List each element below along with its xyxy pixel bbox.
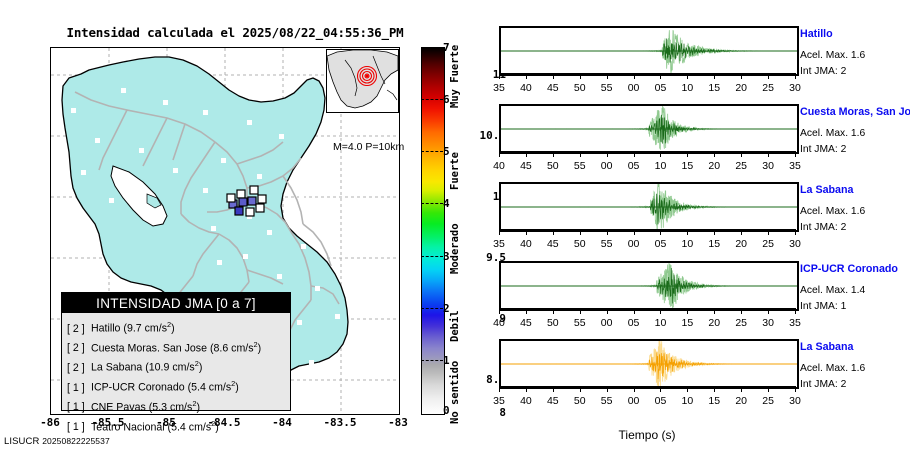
axis-tick-mark <box>580 308 581 314</box>
axis-tick-mark <box>634 308 635 314</box>
axis-tick-label: 20 <box>703 160 725 172</box>
colorbar-category-label: Moderado <box>449 223 461 274</box>
footer-credit: LISUCR 20250822225537 <box>4 436 110 447</box>
axis-tick-mark <box>687 308 688 314</box>
axis-tick-label: 45 <box>542 395 564 407</box>
unit-exponent: 2 <box>231 379 235 388</box>
legend-unit: cm/s <box>172 362 194 374</box>
axis-tick-mark <box>499 151 500 157</box>
legend-accel: 8.6 <box>213 342 228 354</box>
legend-station: Cuesta Moras. San Jose <box>91 342 207 354</box>
axis-tick-label: 35 <box>784 317 806 329</box>
axis-tick-mark <box>634 386 635 392</box>
jma-intensity-label: Int JMA: 2 <box>800 144 846 155</box>
axis-tick-mark <box>634 151 635 157</box>
axis-tick-label: 40 <box>515 82 537 94</box>
axis-tick-label: 00 <box>623 238 645 250</box>
axis-tick-label: 20 <box>703 317 725 329</box>
axis-tick-label: 20 <box>730 82 752 94</box>
colorbar-category-label: Muy Fuerte <box>449 45 461 108</box>
axis-tick-mark <box>795 151 796 157</box>
axis-tick-mark <box>607 308 608 314</box>
legend-level: [ 1 ] <box>67 420 91 435</box>
axis-tick-mark <box>660 151 661 157</box>
axis-tick-label: 40 <box>515 395 537 407</box>
legend-level: [ 2 ] <box>67 322 91 337</box>
axis-tick-label: 25 <box>730 317 752 329</box>
axis-tick-label: 05 <box>649 395 671 407</box>
axis-tick-label: 50 <box>569 395 591 407</box>
legend-list: [ 2 ]Hatillo (9.7 cm/s2) [ 2 ]Cuesta Mor… <box>62 313 290 435</box>
axis-tick-mark <box>660 386 661 392</box>
legend-unit: cm/s <box>209 382 231 394</box>
waveform-trace <box>501 184 797 230</box>
map-xtick: -83 <box>373 416 423 429</box>
axis-tick-mark <box>741 308 742 314</box>
axis-tick-label: 35 <box>488 82 510 94</box>
axis-tick-mark <box>741 229 742 235</box>
axis-tick-label: 30 <box>784 395 806 407</box>
axis-tick-mark <box>553 229 554 235</box>
peak-acceleration-label: Acel. Max. 1.4 <box>800 285 865 296</box>
agency-label: LISUCR <box>4 436 39 447</box>
axis-tick-mark <box>768 308 769 314</box>
axis-tick-mark <box>526 386 527 392</box>
axis-tick-label: 50 <box>542 160 564 172</box>
list-item: [ 2 ]Hatillo (9.7 cm/s2) <box>67 317 290 337</box>
axis-tick-mark <box>714 386 715 392</box>
unit-exponent: 2 <box>254 340 258 349</box>
jma-intensity-label: Int JMA: 1 <box>800 301 846 312</box>
seismogram-panel[interactable] <box>499 182 799 232</box>
waveform-trace <box>501 106 797 152</box>
axis-tick-mark <box>768 229 769 235</box>
axis-line <box>499 73 795 75</box>
list-item: [ 1 ]ICP-UCR Coronado (5.4 cm/s2) <box>67 376 290 396</box>
list-item: [ 1 ]Teatro Nacional (5.4 cm/s2) <box>67 416 290 436</box>
axis-tick-label: 50 <box>569 238 591 250</box>
axis-tick-label: 15 <box>703 238 725 250</box>
unit-exponent: 2 <box>195 359 199 368</box>
peak-acceleration-label: Acel. Max. 1.6 <box>800 50 865 61</box>
axis-tick-mark <box>499 308 500 314</box>
axis-tick-label: 50 <box>542 317 564 329</box>
axis-tick-label: 30 <box>784 238 806 250</box>
location-inset-map[interactable] <box>326 49 399 113</box>
axis-tick-mark <box>526 73 527 79</box>
axis-tick-mark <box>768 386 769 392</box>
axis-tick-mark <box>714 73 715 79</box>
axis-tick-mark <box>607 229 608 235</box>
axis-tick-label: 45 <box>542 238 564 250</box>
station-name-label[interactable]: ICP-UCR Coronado <box>800 263 898 275</box>
axis-tick-mark <box>499 386 500 392</box>
waveform-trace <box>501 263 797 309</box>
unit-exponent: 2 <box>211 419 215 428</box>
map-xtick: -83.5 <box>315 416 365 429</box>
seismogram-xaxis: 354045505500051015202530 <box>499 391 795 407</box>
axis-tick-mark <box>634 229 635 235</box>
axis-tick-mark <box>553 151 554 157</box>
axis-tick-label: 00 <box>623 82 645 94</box>
legend-accel: 9.7 <box>127 323 142 335</box>
colorbar-tick-mark <box>421 151 443 152</box>
axis-tick-mark <box>660 229 661 235</box>
timestamp-code: 20250822225537 <box>42 436 110 446</box>
axis-tick-mark <box>687 229 688 235</box>
axis-tick-label: 30 <box>757 160 779 172</box>
axis-tick-label: 10 <box>676 395 698 407</box>
axis-tick-label: 25 <box>757 82 779 94</box>
axis-tick-mark <box>553 73 554 79</box>
axis-tick-label: 25 <box>757 395 779 407</box>
axis-tick-mark <box>741 151 742 157</box>
list-item: [ 2 ]Cuesta Moras. San Jose (8.6 cm/s2) <box>67 337 290 357</box>
axis-tick-mark <box>499 73 500 79</box>
colorbar-tick-label: 4 <box>443 197 459 210</box>
inset-graphic <box>327 50 398 112</box>
axis-tick-mark <box>795 308 796 314</box>
legend-accel: 5.4 <box>191 382 206 394</box>
axis-tick-mark <box>795 229 796 235</box>
jma-intensity-label: Int JMA: 2 <box>800 66 846 77</box>
axis-tick-label: 00 <box>596 160 618 172</box>
axis-tick-mark <box>634 73 635 79</box>
axis-tick-mark <box>687 386 688 392</box>
axis-tick-label: 25 <box>730 160 752 172</box>
axis-tick-label: 05 <box>649 238 671 250</box>
waveform-trace <box>501 341 797 387</box>
axis-tick-mark <box>795 386 796 392</box>
axis-tick-mark <box>607 151 608 157</box>
seismogram-xaxis: 354045505500051015202530 <box>499 234 795 250</box>
axis-tick-label: 35 <box>488 395 510 407</box>
legend-header: INTENSIDAD JMA [0 a 7] <box>62 293 290 313</box>
unit-exponent: 2 <box>192 399 196 408</box>
axis-tick-label: 45 <box>515 317 537 329</box>
legend-station: CNE Pavas <box>91 401 146 413</box>
legend-station: Hatillo <box>91 323 120 335</box>
colorbar-category-label: Fuerte <box>449 152 461 190</box>
legend-level: [ 2 ] <box>67 341 91 356</box>
axis-tick-label: 55 <box>596 82 618 94</box>
axis-tick-label: 30 <box>784 82 806 94</box>
axis-tick-label: 45 <box>542 82 564 94</box>
legend-unit: cm/s <box>189 421 211 433</box>
seismogram-xaxis-title: Tiempo (s) <box>499 428 795 442</box>
axis-tick-label: 40 <box>488 317 510 329</box>
axis-tick-label: 50 <box>569 82 591 94</box>
intensity-legend: INTENSIDAD JMA [0 a 7] [ 2 ]Hatillo (9.7… <box>61 292 291 411</box>
axis-tick-mark <box>660 73 661 79</box>
colorbar-category-label: Debil <box>449 310 461 342</box>
colorbar-tick-mark <box>421 99 443 100</box>
peak-acceleration-label: Acel. Max. 1.6 <box>800 363 865 374</box>
legend-accel: 5.3 <box>152 401 167 413</box>
axis-tick-label: 10 <box>676 238 698 250</box>
legend-level: [ 1 ] <box>67 381 91 396</box>
axis-tick-label: 45 <box>515 160 537 172</box>
axis-tick-mark <box>714 229 715 235</box>
axis-tick-label: 15 <box>703 395 725 407</box>
colorbar-category-label: No sentido <box>449 361 461 424</box>
axis-tick-mark <box>580 229 581 235</box>
map-title: Intensidad calculada el 2025/08/22_04:55… <box>0 25 470 40</box>
legend-level: [ 2 ] <box>67 361 91 376</box>
axis-tick-mark <box>687 73 688 79</box>
colorbar-tick-mark <box>421 308 443 309</box>
legend-unit: cm/s <box>231 342 253 354</box>
axis-tick-mark <box>741 73 742 79</box>
axis-tick-label: 10 <box>649 160 671 172</box>
legend-station: ICP-UCR Coronado <box>91 382 185 394</box>
axis-tick-mark <box>553 308 554 314</box>
axis-tick-label: 55 <box>569 160 591 172</box>
seismogram-panel[interactable] <box>499 339 799 389</box>
legend-level: [ 1 ] <box>67 400 91 415</box>
axis-tick-mark <box>580 151 581 157</box>
axis-line <box>499 151 795 153</box>
axis-tick-label: 20 <box>730 238 752 250</box>
axis-tick-label: 10 <box>676 82 698 94</box>
axis-tick-label: 35 <box>784 160 806 172</box>
map-ytick: 8 <box>462 406 506 419</box>
colorbar-tick-mark <box>421 360 443 361</box>
legend-unit: cm/s <box>145 323 167 335</box>
legend-accel: 10.9 <box>149 362 170 374</box>
axis-tick-mark <box>526 308 527 314</box>
axis-tick-mark <box>607 386 608 392</box>
legend-accel: 5.4 <box>171 421 186 433</box>
axis-tick-label: 15 <box>676 317 698 329</box>
axis-tick-mark <box>526 151 527 157</box>
axis-tick-mark <box>795 73 796 79</box>
axis-tick-label: 10 <box>649 317 671 329</box>
axis-tick-mark <box>499 229 500 235</box>
axis-tick-mark <box>714 151 715 157</box>
colorbar-tick-mark <box>421 203 443 204</box>
seismogram-panel[interactable] <box>499 104 799 154</box>
axis-tick-label: 05 <box>623 317 645 329</box>
list-item: [ 2 ]La Sabana (10.9 cm/s2) <box>67 356 290 376</box>
axis-tick-label: 20 <box>730 395 752 407</box>
station-name-label[interactable]: La Sabana <box>800 184 853 196</box>
axis-tick-label: 55 <box>569 317 591 329</box>
seismogram-xaxis: 354045505500051015202530 <box>499 78 795 94</box>
axis-line <box>499 308 795 310</box>
axis-tick-mark <box>687 151 688 157</box>
axis-tick-mark <box>660 308 661 314</box>
jma-intensity-label: Int JMA: 2 <box>800 379 846 390</box>
seismogram-xaxis: 404550550005101520253035 <box>499 156 795 172</box>
list-item: [ 1 ]CNE Pavas (5.3 cm/s2) <box>67 396 290 416</box>
axis-tick-label: 55 <box>596 238 618 250</box>
unit-exponent: 2 <box>167 320 171 329</box>
axis-tick-label: 05 <box>623 160 645 172</box>
axis-tick-label: 15 <box>703 82 725 94</box>
seismogram-xaxis: 404550550005101520253035 <box>499 313 795 329</box>
axis-tick-mark <box>768 73 769 79</box>
station-name-label[interactable]: La Sabana <box>800 341 853 353</box>
axis-tick-mark <box>607 73 608 79</box>
station-name-label[interactable]: Cuesta Moras, San Jose <box>800 106 910 118</box>
axis-tick-mark <box>526 229 527 235</box>
axis-tick-label: 40 <box>515 238 537 250</box>
magnitude-depth-label: M=4.0 P=10km <box>333 141 404 153</box>
seismogram-panel[interactable] <box>499 261 799 311</box>
axis-line <box>499 386 795 388</box>
axis-tick-label: 00 <box>596 317 618 329</box>
axis-tick-mark <box>580 386 581 392</box>
axis-tick-mark <box>768 151 769 157</box>
peak-acceleration-label: Acel. Max. 1.6 <box>800 206 865 217</box>
axis-line <box>499 229 795 231</box>
peak-acceleration-label: Acel. Max. 1.6 <box>800 128 865 139</box>
axis-tick-mark <box>580 73 581 79</box>
legend-station: Teatro Nacional <box>91 421 165 433</box>
axis-tick-label: 55 <box>596 395 618 407</box>
axis-tick-label: 35 <box>488 238 510 250</box>
legend-unit: cm/s <box>170 401 192 413</box>
colorbar-tick-mark <box>421 256 443 257</box>
axis-tick-label: 40 <box>488 160 510 172</box>
legend-station: La Sabana <box>91 362 142 374</box>
axis-tick-mark <box>741 386 742 392</box>
axis-tick-label: 15 <box>676 160 698 172</box>
axis-tick-mark <box>714 308 715 314</box>
axis-tick-mark <box>553 386 554 392</box>
jma-intensity-label: Int JMA: 2 <box>800 222 846 233</box>
seismogram-panel[interactable] <box>499 26 799 76</box>
axis-tick-label: 00 <box>623 395 645 407</box>
axis-tick-label: 25 <box>757 238 779 250</box>
waveform-trace <box>501 28 797 74</box>
station-name-label[interactable]: Hatillo <box>800 28 833 40</box>
axis-tick-label: 05 <box>649 82 671 94</box>
axis-tick-label: 30 <box>757 317 779 329</box>
